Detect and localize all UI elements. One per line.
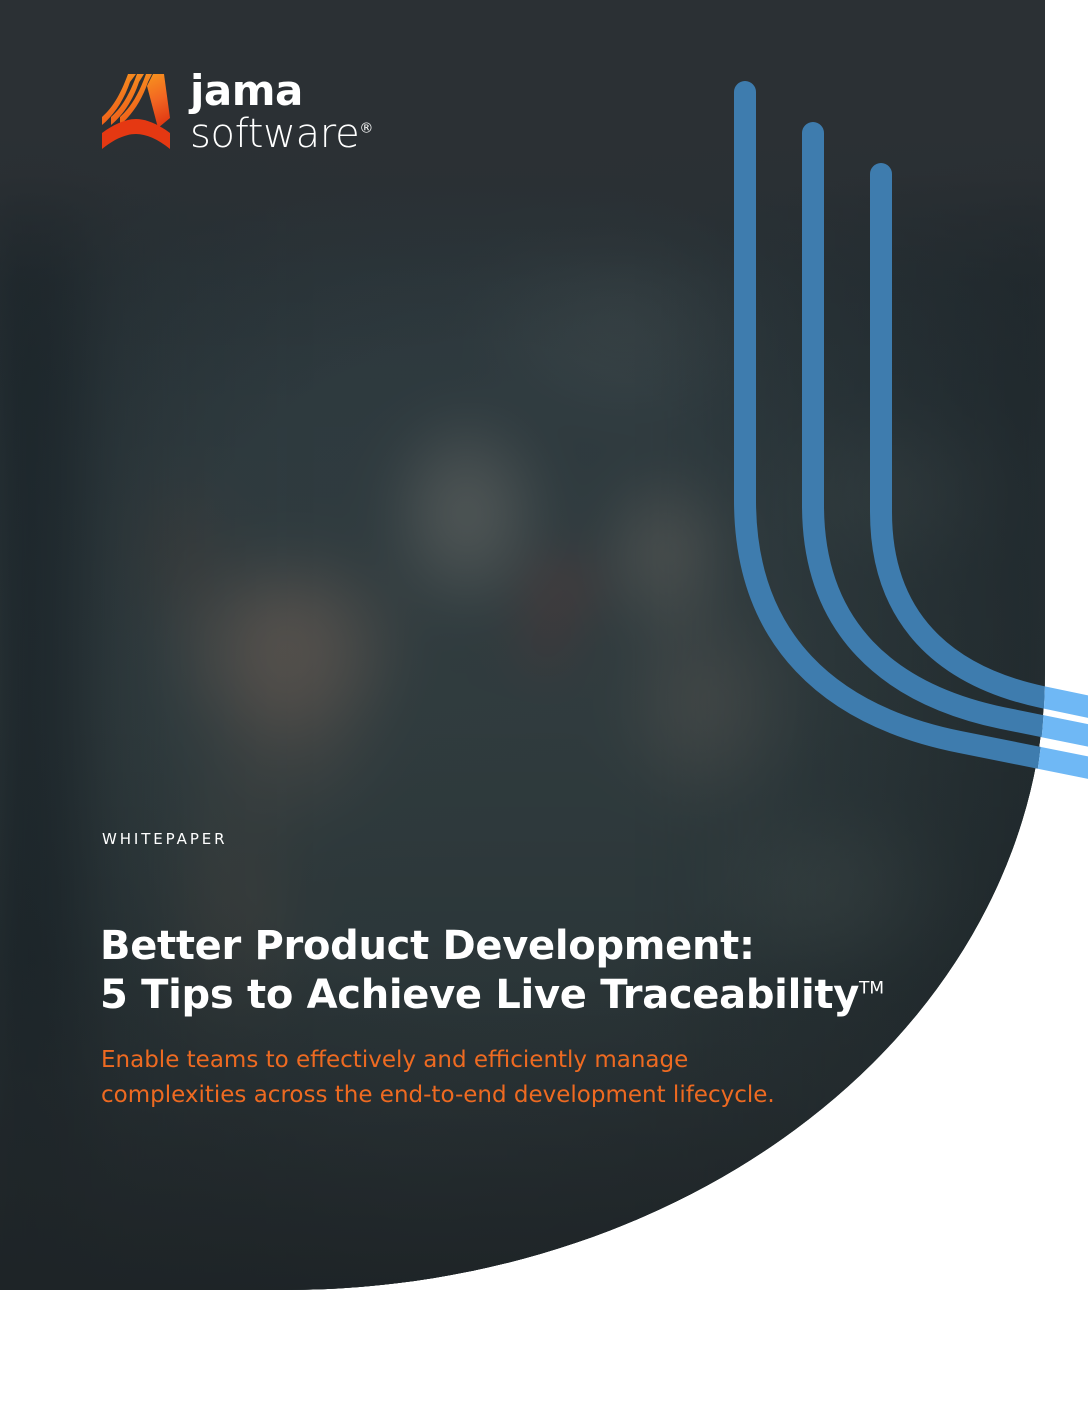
logo-wordmark: jama software® <box>190 70 373 154</box>
headline-line-2: 5 Tips to Achieve Live Traceability <box>100 972 859 1018</box>
subhead-line-2: complexities across the end-to-end devel… <box>101 1082 775 1108</box>
trademark-superscript: TM <box>859 979 884 999</box>
document-type-kicker: WHITEPAPER <box>102 830 227 848</box>
subhead-line-1: Enable teams to effectively and efficien… <box>101 1047 688 1073</box>
logo-word-software-text: software <box>190 111 359 157</box>
registered-trademark-mark: ® <box>359 121 373 137</box>
whitepaper-cover-page: jama software® WHITEPAPER Better Product… <box>0 0 1088 1408</box>
logo-word-software: software® <box>190 114 373 154</box>
jama-chevron-mark-icon <box>100 70 172 154</box>
page-subtitle: Enable teams to effectively and efficien… <box>101 1043 941 1113</box>
page-title: Better Product Development:5 Tips to Ach… <box>100 922 1000 1021</box>
jama-software-logo[interactable]: jama software® <box>100 70 373 154</box>
headline-line-1: Better Product Development: <box>100 923 755 969</box>
logo-word-jama: jama <box>190 70 373 112</box>
